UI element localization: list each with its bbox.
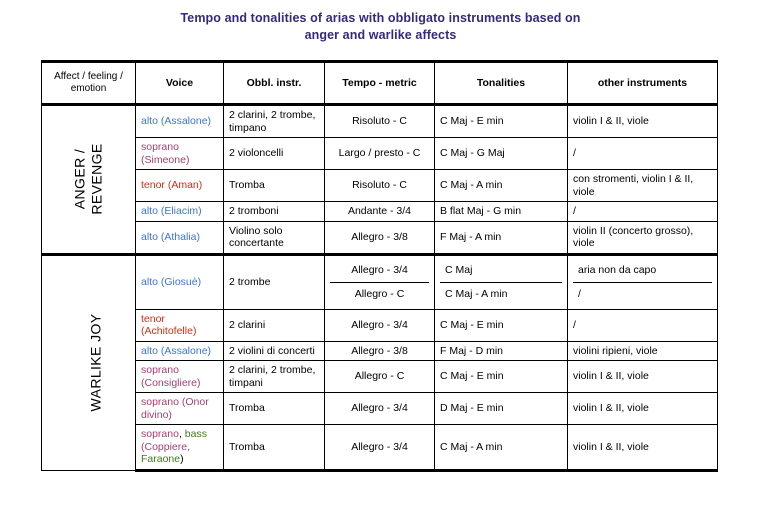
cell-tonalities: C Maj - A min [435,425,568,471]
table-subrow: aria non da capo [573,259,712,283]
subcell-other: aria non da capo [573,259,712,283]
cell-tempo-metric: Largo / presto - C [325,138,435,170]
cell-obbl-instr: 2 clarini, 2 trombe, timpani [224,361,325,393]
table-row: soprano (Simeone)2 violoncelliLargo / pr… [42,138,718,170]
cell-tonalities: B flat Maj - G min [435,202,568,222]
table-row: alto (Assalone)2 violini di concertiAlle… [42,341,718,361]
cell-other-instruments: violin I & II, viole [568,105,718,138]
cell-tonalities: C Maj - E min [435,361,568,393]
cell-tempo-metric: Allegro - 3/4 [325,425,435,471]
cell-obbl-instr: Tromba [224,170,325,202]
voice-name-part: soprano [141,428,179,440]
subcell-tempo: Allegro - 3/4 [330,259,429,283]
cell-voice: tenor (Achitofelle) [136,309,224,341]
voice-name-part: , [187,441,190,453]
table-subrow: Allegro - C [330,282,429,306]
page-title-line-1: Tempo and tonalities of arias with obbli… [0,10,761,27]
cell-tonalities: F Maj - A min [435,221,568,254]
cell-other-instruments: con stromenti, violin I & II, viole [568,170,718,202]
cell-tempo-metric: Allegro - 3/4 [325,309,435,341]
cell-other-instruments: / [568,309,718,341]
cell-tonalities: F Maj - D min [435,341,568,361]
cell-tempo-metric: Risoluto - C [325,170,435,202]
cell-other-instruments: violin I & II, viole [568,361,718,393]
table-subrow: C Maj - A min [440,282,562,306]
cell-other-instruments: / [568,202,718,222]
cell-obbl-instr: 2 trombe [224,254,325,309]
table-row: tenor (Aman)TrombaRisoluto - CC Maj - A … [42,170,718,202]
subcell-tempo: Allegro - C [330,282,429,306]
cell-obbl-instr: Violino solo concertante [224,221,325,254]
cell-tempo-metric: Allegro - 3/8 [325,341,435,361]
cell-tonalities: C Maj - A min [435,170,568,202]
cell-other-instruments: aria non da capo/ [568,254,718,309]
table-row: tenor (Achitofelle)2 clariniAllegro - 3/… [42,309,718,341]
voice-name-part: bass [185,428,207,440]
group-label-text: ANGER /REVENGE [71,144,105,215]
aria-table-container: Affect / feeling / emotionVoiceObbl. ins… [41,60,717,472]
group-label-2: WARLIKE JOY [42,254,136,470]
cell-voice: alto (Eliacim) [136,202,224,222]
cell-voice: alto (Assalone) [136,341,224,361]
cell-voice: alto (Assalone) [136,105,224,138]
column-header-affect: Affect / feeling / emotion [42,62,136,105]
cell-tonalities: C MajC Maj - A min [435,254,568,309]
cell-voice: soprano (Simeone) [136,138,224,170]
cell-tempo-metric: Allegro - 3/4Allegro - C [325,254,435,309]
cell-obbl-instr: 2 clarini, 2 trombe, timpano [224,105,325,138]
page-title: Tempo and tonalities of arias with obbli… [0,10,761,44]
table-subrow: / [573,282,712,306]
table-subrow: Allegro - 3/4 [330,259,429,283]
cell-other-instruments: / [568,138,718,170]
column-header-obbl-instr: Obbl. instr. [224,62,325,105]
cell-other-instruments: violin I & II, viole [568,425,718,471]
cell-tonalities: D Maj - E min [435,393,568,425]
voice-name-part: Coppiere [145,441,188,453]
cell-other-instruments: violini ripieni, viole [568,341,718,361]
cell-tonalities: C Maj - G Maj [435,138,568,170]
table-row: soprano (Onor divino)TrombaAllegro - 3/4… [42,393,718,425]
cell-obbl-instr: 2 tromboni [224,202,325,222]
table-row: soprano (Consigliere)2 clarini, 2 trombe… [42,361,718,393]
table-row: soprano, bass (Coppiere, Faraone)TrombaA… [42,425,718,471]
cell-voice: soprano (Onor divino) [136,393,224,425]
cell-voice: soprano, bass (Coppiere, Faraone) [136,425,224,471]
cell-obbl-instr: Tromba [224,425,325,471]
cell-tempo-metric: Risoluto - C [325,105,435,138]
voice-name-part: ) [180,453,184,465]
column-header-voice: Voice [136,62,224,105]
cell-other-instruments: violin I & II, viole [568,393,718,425]
group-label-text: WARLIKE JOY [88,313,105,411]
subcell-other: / [573,282,712,306]
column-header-tonalities: Tonalities [435,62,568,105]
table-row: WARLIKE JOYalto (Giosuè)2 trombeAllegro … [42,254,718,309]
cell-tempo-metric: Andante - 3/4 [325,202,435,222]
cell-tempo-metric: Allegro - C [325,361,435,393]
cell-obbl-instr: 2 violoncelli [224,138,325,170]
column-header-other-instruments: other instruments [568,62,718,105]
cell-other-instruments: violin II (concerto grosso), viole [568,221,718,254]
page-title-line-2: anger and warlike affects [0,27,761,44]
cell-obbl-instr: 2 clarini [224,309,325,341]
column-header-tempo-metric: Tempo - metric [325,62,435,105]
cell-tempo-metric: Allegro - 3/4 [325,393,435,425]
cell-tonalities: C Maj - E min [435,309,568,341]
cell-tempo-metric: Allegro - 3/8 [325,221,435,254]
cell-tonalities: C Maj - E min [435,105,568,138]
table-row: alto (Athalia)Violino solo concertanteAl… [42,221,718,254]
aria-table: Affect / feeling / emotionVoiceObbl. ins… [41,60,718,472]
subcell-tonalities: C Maj - A min [440,282,562,306]
cell-voice: soprano (Consigliere) [136,361,224,393]
table-header-row: Affect / feeling / emotionVoiceObbl. ins… [42,62,718,105]
cell-voice: alto (Giosuè) [136,254,224,309]
cell-obbl-instr: 2 violini di concerti [224,341,325,361]
table-row: ANGER /REVENGEalto (Assalone)2 clarini, … [42,105,718,138]
cell-obbl-instr: Tromba [224,393,325,425]
subcell-tonalities: C Maj [440,259,562,283]
table-row: alto (Eliacim)2 tromboniAndante - 3/4B f… [42,202,718,222]
cell-voice: tenor (Aman) [136,170,224,202]
cell-voice: alto (Athalia) [136,221,224,254]
group-label-1: ANGER /REVENGE [42,105,136,255]
voice-name-part: Faraone [141,453,180,465]
table-subrow: C Maj [440,259,562,283]
